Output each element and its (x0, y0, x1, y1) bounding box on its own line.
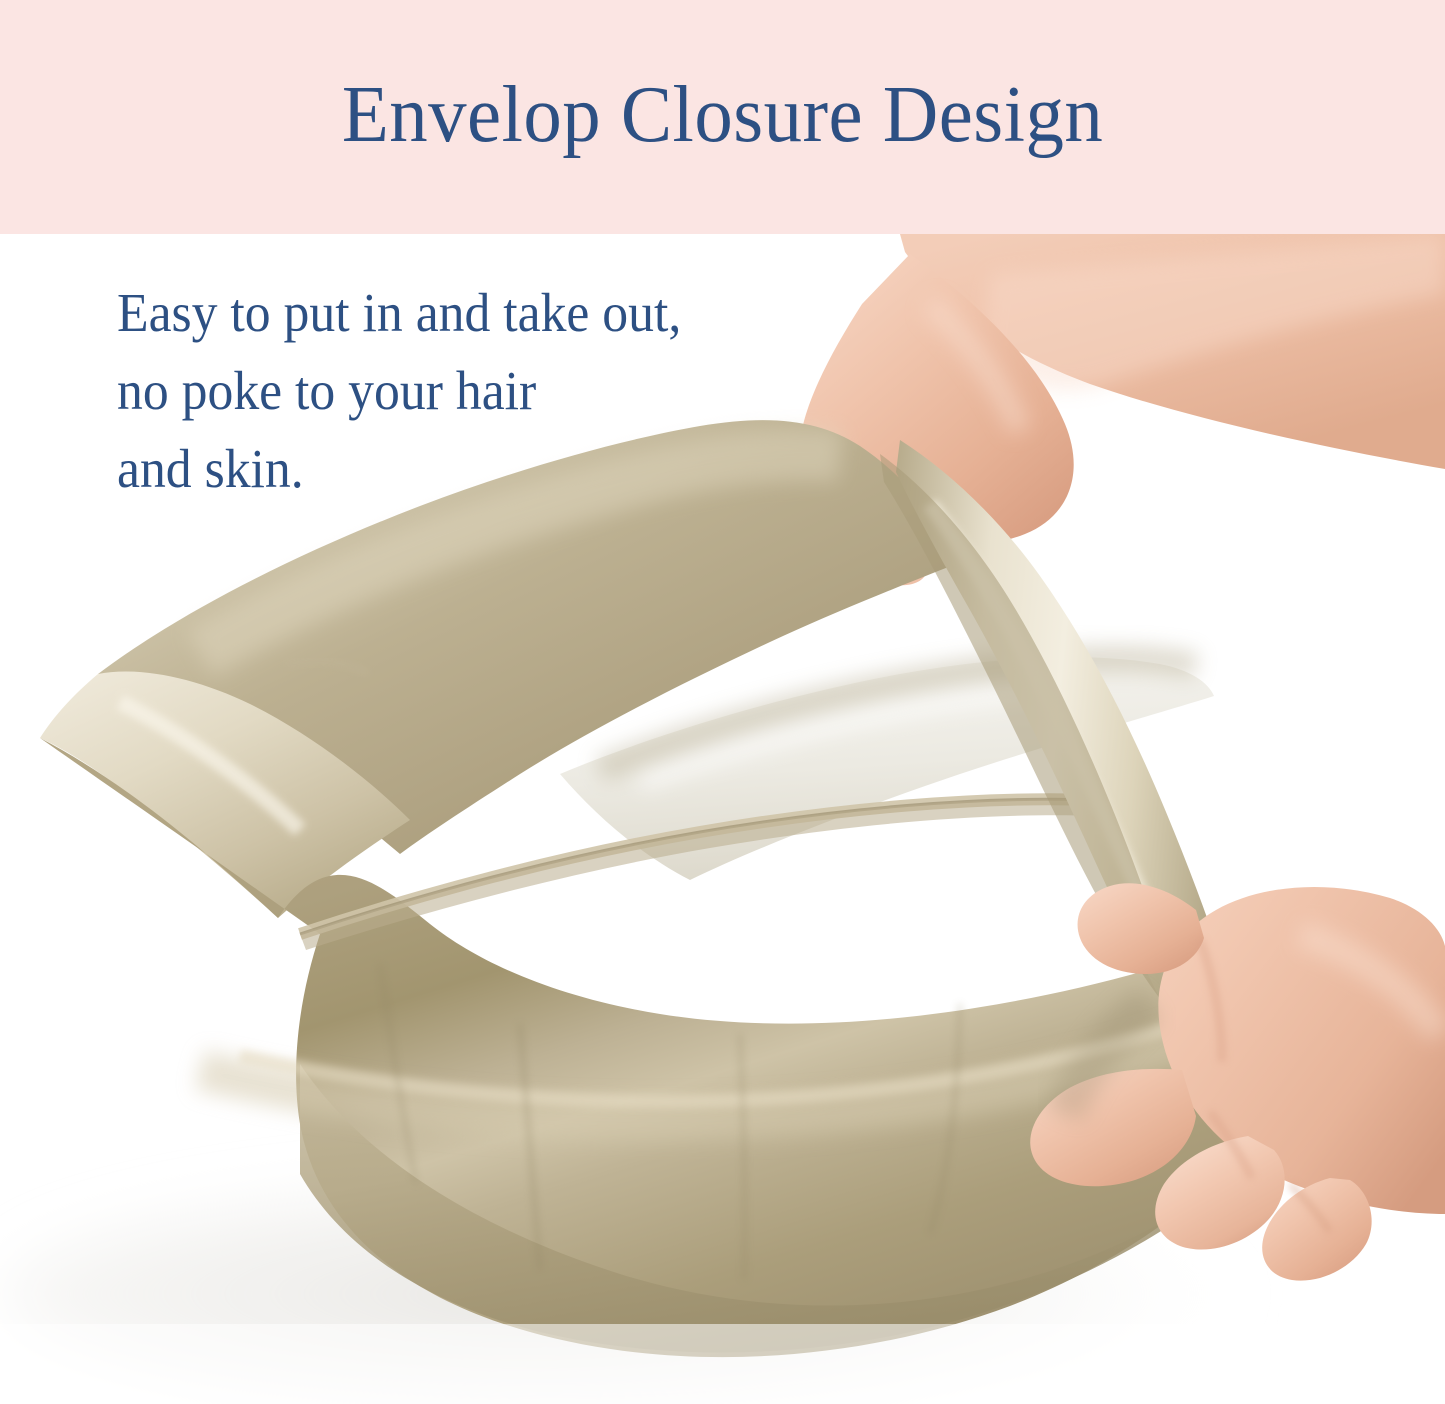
page-title: Envelop Closure Design (342, 75, 1103, 155)
product-photo (0, 234, 1445, 1404)
bottom-fade (0, 1324, 1445, 1404)
product-infographic: Envelop Closure Design (0, 0, 1445, 1404)
header-banner: Envelop Closure Design (0, 0, 1445, 234)
pillow-illustration (0, 234, 1445, 1404)
